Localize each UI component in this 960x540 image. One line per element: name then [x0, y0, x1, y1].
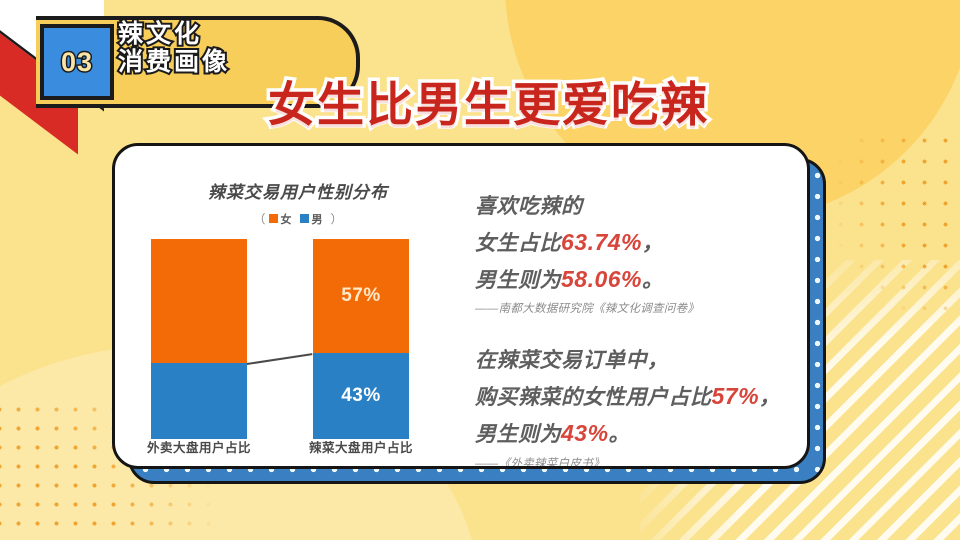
bar-value-male-spicy: 43%: [341, 385, 381, 407]
p1l3-pre: 男生则为: [475, 269, 561, 292]
legend-swatch-female: [269, 214, 278, 223]
stacked-bar-overall: [151, 239, 247, 439]
paragraph-2-line-3: 男生则为43%。: [475, 417, 785, 450]
p2l3-pre: 男生则为: [475, 423, 561, 446]
bar-segment-female-overall: [151, 239, 247, 363]
chart-title: 辣菜交易用户性别分布: [133, 178, 463, 203]
legend-swatch-male: [300, 214, 309, 223]
bar-connector-line: [247, 353, 313, 365]
p2l2-post: ，: [759, 386, 781, 409]
p1l2-highlight: 63.74%: [561, 229, 642, 255]
legend-close-paren: ）: [331, 210, 343, 227]
slide-canvas: 03 辣文化 消费画像 女生比男生更爱吃辣 辣菜交易用户性别分布 （ 女 男 ）: [0, 0, 960, 540]
p1l2-pre: 女生占比: [475, 232, 561, 255]
legend-open-paren: （: [253, 210, 265, 227]
gender-distribution-chart: 辣菜交易用户性别分布 （ 女 男 ）: [133, 160, 463, 448]
legend-label-male: 男: [312, 211, 323, 227]
paragraph-1-source: ——南都大数据研究院《辣文化调查问卷》: [475, 300, 785, 316]
bar-value-female-spicy: 57%: [341, 285, 381, 307]
section-badge-line-1: 辣文化: [118, 20, 358, 48]
paragraph-1-line-3: 男生则为58.06%。: [475, 263, 785, 296]
paragraph-1-line-2: 女生占比63.74%，: [475, 226, 785, 259]
background-halftone-dots-right: [830, 130, 960, 310]
insight-paragraph-2: 在辣菜交易订单中， 购买辣菜的女性用户占比57%， 男生则为43%。 ——《外卖…: [475, 346, 785, 469]
p2l1-pre: 在辣菜交易订单中，: [475, 349, 669, 372]
insight-paragraph-1: 喜欢吃辣的 女生占比63.74%， 男生则为58.06%。 ——南都大数据研究院…: [475, 192, 785, 316]
p1l3-highlight: 58.06%: [561, 266, 642, 292]
stacked-bar-spicy: 57% 43%: [313, 239, 409, 439]
p2l2-pre: 购买辣菜的女性用户占比: [475, 386, 712, 409]
section-number: 03: [61, 47, 93, 78]
chart-plot-area: 57% 43% 外卖大盘用户占比 辣菜大盘用户占比: [133, 239, 463, 461]
p2l3-post: 。: [609, 423, 631, 446]
paragraph-2-source: ——《外卖辣菜白皮书》: [475, 455, 785, 469]
page-title: 女生比男生更爱吃辣: [268, 66, 709, 135]
paragraph-1-line-1: 喜欢吃辣的: [475, 192, 785, 222]
p2l2-highlight: 57%: [712, 383, 760, 409]
bar-segment-male-overall: [151, 363, 247, 439]
p2l3-highlight: 43%: [561, 420, 609, 446]
paragraph-2-line-1: 在辣菜交易订单中，: [475, 346, 785, 376]
p1l3-post: 。: [642, 269, 664, 292]
bar-segment-female-spicy: 57%: [313, 239, 409, 353]
paragraph-2-line-2: 购买辣菜的女性用户占比57%，: [475, 380, 785, 413]
insight-text-block: 喜欢吃辣的 女生占比63.74%， 男生则为58.06%。 ——南都大数据研究院…: [475, 192, 785, 469]
p1l1-pre: 喜欢吃辣的: [475, 195, 583, 218]
bar-label-overall: 外卖大盘用户占比: [124, 437, 274, 456]
content-card: 辣菜交易用户性别分布 （ 女 男 ）: [112, 143, 810, 469]
bar-segment-male-spicy: 43%: [313, 353, 409, 439]
legend-label-female: 女: [281, 211, 292, 227]
section-number-box: 03: [40, 24, 114, 100]
p1l2-post: ，: [642, 232, 664, 255]
chart-legend: （ 女 男 ）: [133, 210, 463, 227]
bar-label-spicy: 辣菜大盘用户占比: [286, 437, 436, 456]
